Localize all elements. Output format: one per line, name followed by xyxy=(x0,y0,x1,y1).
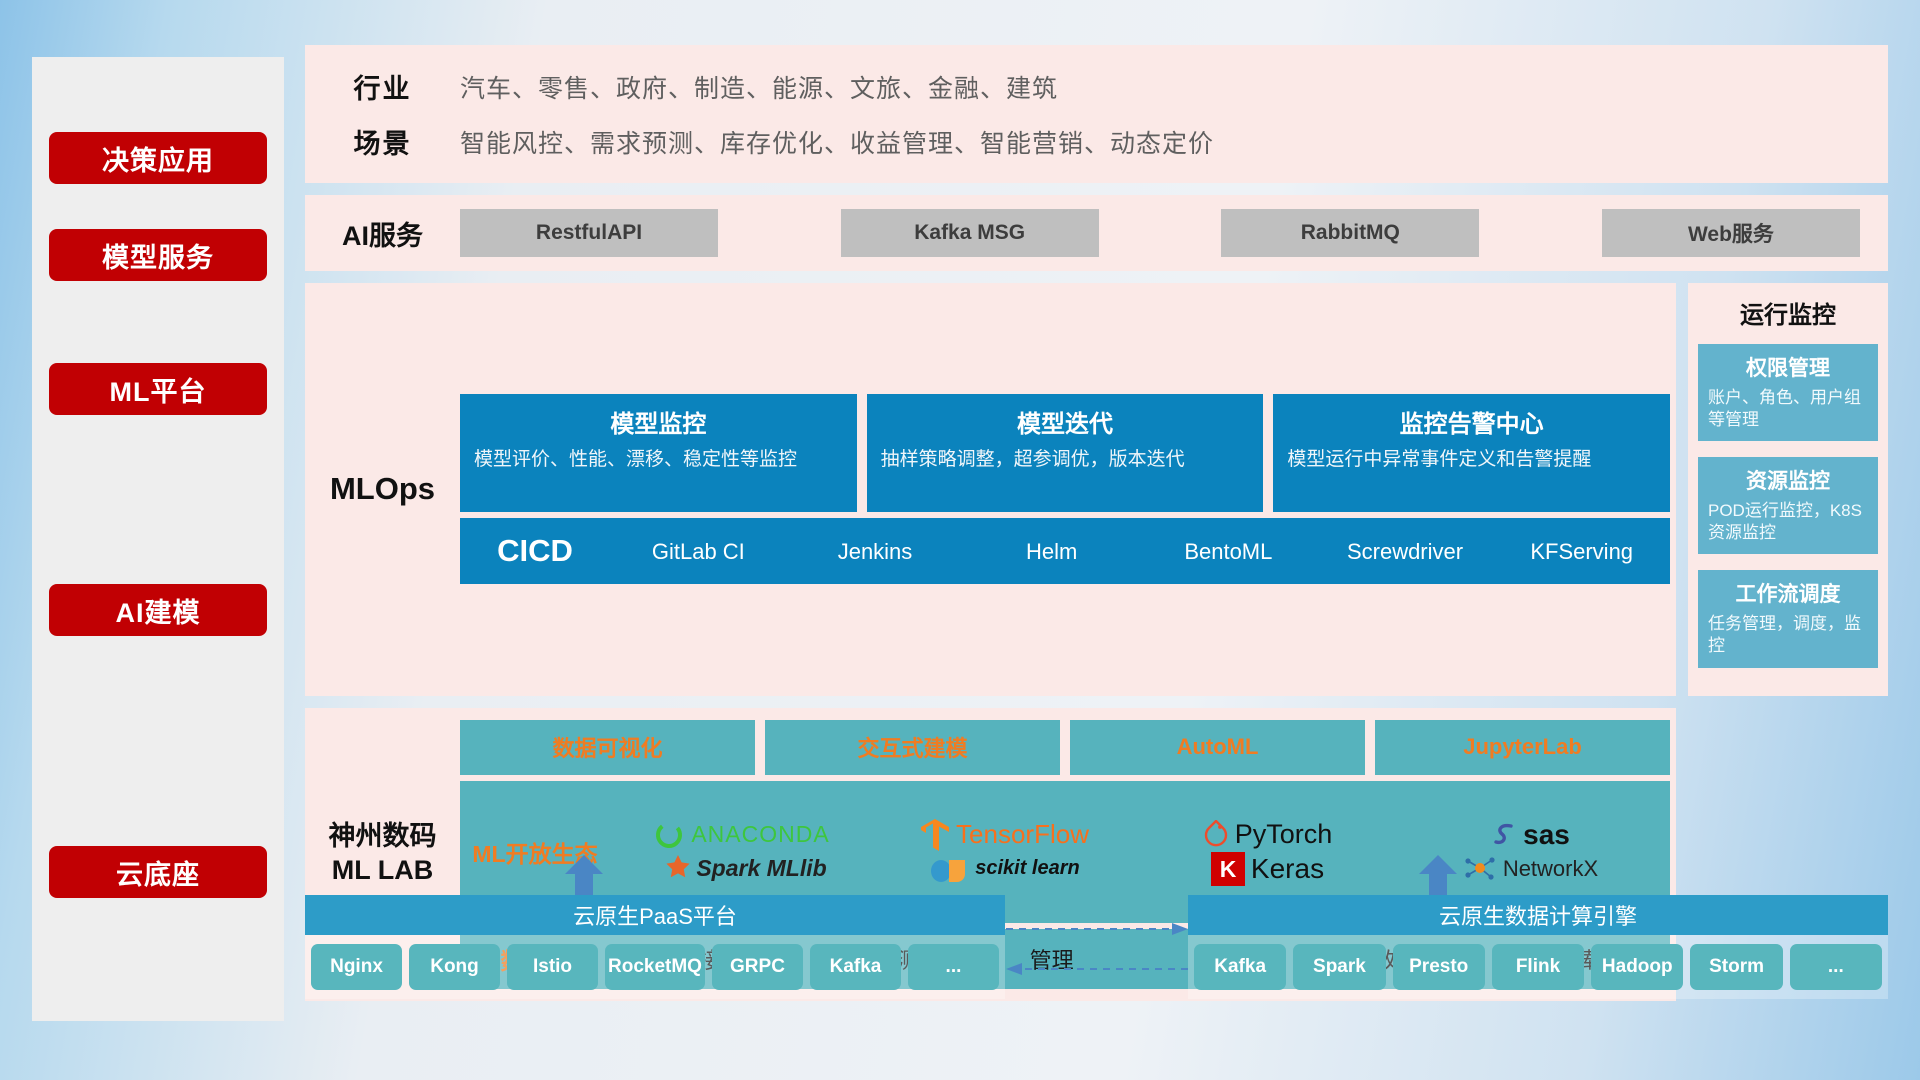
cloud-chip-rocketmq[interactable]: RocketMQ xyxy=(605,944,705,990)
ml-lab-label: 神州数码 ML LAB xyxy=(305,820,460,888)
anaconda-logo: ANACONDA xyxy=(653,819,829,851)
networkx-logo-text: NetworkX xyxy=(1503,856,1598,882)
monitor-card-title: 权限管理 xyxy=(1708,352,1868,382)
mlops-card-desc: 抽样策略调整，超参调优，版本迭代 xyxy=(881,447,1250,472)
cloud-paas-chip-list: Nginx Kong Istio RocketMQ GRPC Kafka ... xyxy=(305,935,1005,999)
monitor-card-title: 工作流调度 xyxy=(1708,578,1868,608)
cicd-item[interactable]: KFServing xyxy=(1493,540,1670,563)
ai-service-band: AI服务 RestfulAPI Kafka MSG RabbitMQ Web服务 xyxy=(305,195,1888,271)
tensorflow-logo: TensorFlow xyxy=(920,818,1089,852)
tab-interactive-modeling[interactable]: 交互式建模 xyxy=(765,720,1060,775)
runtime-monitor-panel: 运行监控 权限管理 账户、角色、用户组等管理 资源监控 POD运行监控，K8S资… xyxy=(1688,283,1888,696)
cloud-chip-more[interactable]: ... xyxy=(1790,944,1882,990)
pytorch-logo-text: PyTorch xyxy=(1235,819,1333,850)
monitor-card-desc: POD运行监控，K8S资源监控 xyxy=(1708,500,1868,544)
cicd-item[interactable]: Screwdriver xyxy=(1317,540,1494,563)
tensorflow-logo-text: TensorFlow xyxy=(956,819,1089,850)
mlops-band: MLOps 模型监控 模型评价、性能、漂移、稳定性等监控 模型迭代 抽样策略调整… xyxy=(305,283,1676,696)
keras-logo: K Keras xyxy=(1211,852,1324,886)
ai-service-chip[interactable]: RestfulAPI xyxy=(460,209,718,257)
cloud-foundation-row: 云原生PaaS平台 Nginx Kong Istio RocketMQ GRPC… xyxy=(305,895,1888,1035)
cloud-chip-presto[interactable]: Presto xyxy=(1393,944,1485,990)
monitor-card-resource[interactable]: 资源监控 POD运行监控，K8S资源监控 xyxy=(1698,457,1878,554)
cloud-paas-title: 云原生PaaS平台 xyxy=(305,895,1005,935)
monitor-card-desc: 账户、角色、用户组等管理 xyxy=(1708,387,1868,431)
ml-lab-label-line1: 神州数码 xyxy=(305,820,460,854)
keras-logo-text: Keras xyxy=(1251,853,1324,885)
cloud-chip-nginx[interactable]: Nginx xyxy=(311,944,402,990)
mlops-card-model-monitoring[interactable]: 模型监控 模型评价、性能、漂移、稳定性等监控 xyxy=(460,394,857,512)
ml-lab-tab-list: 数据可视化 交互式建模 AutoML JupyterLab xyxy=(460,720,1670,775)
rail-chip-cloud-base[interactable]: 云底座 xyxy=(49,846,267,898)
cloud-chip-spark[interactable]: Spark xyxy=(1293,944,1385,990)
cicd-item[interactable]: GitLab CI xyxy=(610,540,787,563)
monitor-card-title: 资源监控 xyxy=(1708,465,1868,495)
cloud-paas-group: 云原生PaaS平台 Nginx Kong Istio RocketMQ GRPC… xyxy=(305,895,1005,999)
networkx-logo: NetworkX xyxy=(1463,853,1598,885)
tab-automl[interactable]: AutoML xyxy=(1070,720,1365,775)
ml-lab-label-line2: ML LAB xyxy=(305,854,460,888)
cicd-item[interactable]: BentoML xyxy=(1140,540,1317,563)
industry-label: 行业 xyxy=(305,67,460,106)
cloud-chip-kafka[interactable]: Kafka xyxy=(1194,944,1286,990)
cloud-compute-chip-list: Kafka Spark Presto Flink Hadoop Storm ..… xyxy=(1188,935,1888,999)
cloud-chip-kafka[interactable]: Kafka xyxy=(810,944,901,990)
mlops-card-alert-center[interactable]: 监控告警中心 模型运行中异常事件定义和告警提醒 xyxy=(1273,394,1670,512)
ai-service-chip-list: RestfulAPI Kafka MSG RabbitMQ Web服务 xyxy=(460,209,1888,257)
cicd-item-list: GitLab CI Jenkins Helm BentoML Screwdriv… xyxy=(610,540,1670,563)
spark-mllib-logo: Spark MLlib xyxy=(656,854,826,884)
scenario-row: 场景 智能风控、需求预测、库存优化、收益管理、智能营销、动态定价 xyxy=(305,122,1888,161)
industry-row: 行业 汽车、零售、政府、制造、能源、文旅、金融、建筑 xyxy=(305,67,1888,106)
pytorch-logo: PyTorch xyxy=(1203,819,1333,850)
mlops-card-title: 模型迭代 xyxy=(881,404,1250,439)
scikit-learn-logo-text: scikit learn xyxy=(975,857,1080,880)
mlops-card-desc: 模型运行中异常事件定义和告警提醒 xyxy=(1287,447,1656,472)
monitor-card-workflow[interactable]: 工作流调度 任务管理，调度，监控 xyxy=(1698,570,1878,667)
mlops-card-model-iteration[interactable]: 模型迭代 抽样策略调整，超参调优，版本迭代 xyxy=(867,394,1264,512)
cloud-compute-group: 云原生数据计算引擎 Kafka Spark Presto Flink Hadoo… xyxy=(1188,895,1888,999)
cicd-strip: CICD GitLab CI Jenkins Helm BentoML Scre… xyxy=(460,518,1670,584)
cloud-chip-kong[interactable]: Kong xyxy=(409,944,500,990)
runtime-monitor-title: 运行监控 xyxy=(1698,295,1878,330)
mlops-card-desc: 模型评价、性能、漂移、稳定性等监控 xyxy=(474,447,843,472)
cicd-item[interactable]: Helm xyxy=(963,540,1140,563)
arrow-up-compute xyxy=(1417,855,1459,897)
cloud-chip-hadoop[interactable]: Hadoop xyxy=(1591,944,1683,990)
tab-data-visualization[interactable]: 数据可视化 xyxy=(460,720,755,775)
rail-chip-ai-modeling[interactable]: AI建模 xyxy=(49,584,267,636)
svg-text:K: K xyxy=(1220,856,1237,882)
mlops-label: MLOps xyxy=(305,471,460,507)
cloud-chip-istio[interactable]: Istio xyxy=(507,944,598,990)
cloud-chip-more[interactable]: ... xyxy=(908,944,999,990)
band-gap xyxy=(305,271,1888,283)
anaconda-logo-text: ANACONDA xyxy=(691,821,829,848)
sas-logo: sas xyxy=(1491,819,1570,851)
ml-ecosystem-logo-grid: ANACONDA TensorFlow PyTorch sas xyxy=(610,818,1670,886)
tab-jupyterlab[interactable]: JupyterLab xyxy=(1375,720,1670,775)
rail-chip-decision[interactable]: 决策应用 xyxy=(49,132,267,184)
mlops-card-list: 模型监控 模型评价、性能、漂移、稳定性等监控 模型迭代 抽样策略调整，超参调优，… xyxy=(460,394,1670,512)
industry-scenario-band: 行业 汽车、零售、政府、制造、能源、文旅、金融、建筑 场景 智能风控、需求预测、… xyxy=(305,45,1888,183)
band-gap xyxy=(305,183,1888,195)
industry-value: 汽车、零售、政府、制造、能源、文旅、金融、建筑 xyxy=(460,69,1058,105)
cloud-compute-title: 云原生数据计算引擎 xyxy=(1188,895,1888,935)
ai-service-chip[interactable]: RabbitMQ xyxy=(1221,209,1479,257)
ai-service-chip[interactable]: Web服务 xyxy=(1602,209,1860,257)
rail-chip-ml-platform[interactable]: ML平台 xyxy=(49,363,267,415)
scenario-value: 智能风控、需求预测、库存优化、收益管理、智能营销、动态定价 xyxy=(460,124,1214,160)
sas-logo-text: sas xyxy=(1523,819,1570,851)
cicd-label: CICD xyxy=(460,533,610,569)
ai-service-label: AI服务 xyxy=(305,214,460,253)
cloud-chip-storm[interactable]: Storm xyxy=(1690,944,1782,990)
scenario-label: 场景 xyxy=(305,122,460,161)
monitor-card-permission[interactable]: 权限管理 账户、角色、用户组等管理 xyxy=(1698,344,1878,441)
mlops-card-title: 监控告警中心 xyxy=(1287,404,1656,439)
left-rail: 决策应用 模型服务 ML平台 AI建模 云底座 xyxy=(32,57,284,1021)
cloud-chip-flink[interactable]: Flink xyxy=(1492,944,1584,990)
cloud-chip-grpc[interactable]: GRPC xyxy=(712,944,803,990)
mlops-body: 模型监控 模型评价、性能、漂移、稳定性等监控 模型迭代 抽样策略调整，超参调优，… xyxy=(460,394,1676,584)
spark-logo-text: Spark MLlib xyxy=(696,855,826,882)
cicd-item[interactable]: Jenkins xyxy=(787,540,964,563)
dashed-connector xyxy=(1006,923,1188,979)
mlops-and-monitor-row: MLOps 模型监控 模型评价、性能、漂移、稳定性等监控 模型迭代 抽样策略调整… xyxy=(305,283,1888,696)
main-column: 行业 汽车、零售、政府、制造、能源、文旅、金融、建筑 场景 智能风控、需求预测、… xyxy=(305,45,1888,1001)
ai-service-chip[interactable]: Kafka MSG xyxy=(841,209,1099,257)
mlops-card-title: 模型监控 xyxy=(474,404,843,439)
monitor-card-desc: 任务管理，调度，监控 xyxy=(1708,613,1868,657)
arrow-up-paas xyxy=(563,855,605,897)
rail-chip-model-serving[interactable]: 模型服务 xyxy=(49,229,267,281)
scikit-learn-logo: scikit learn xyxy=(929,853,1080,885)
